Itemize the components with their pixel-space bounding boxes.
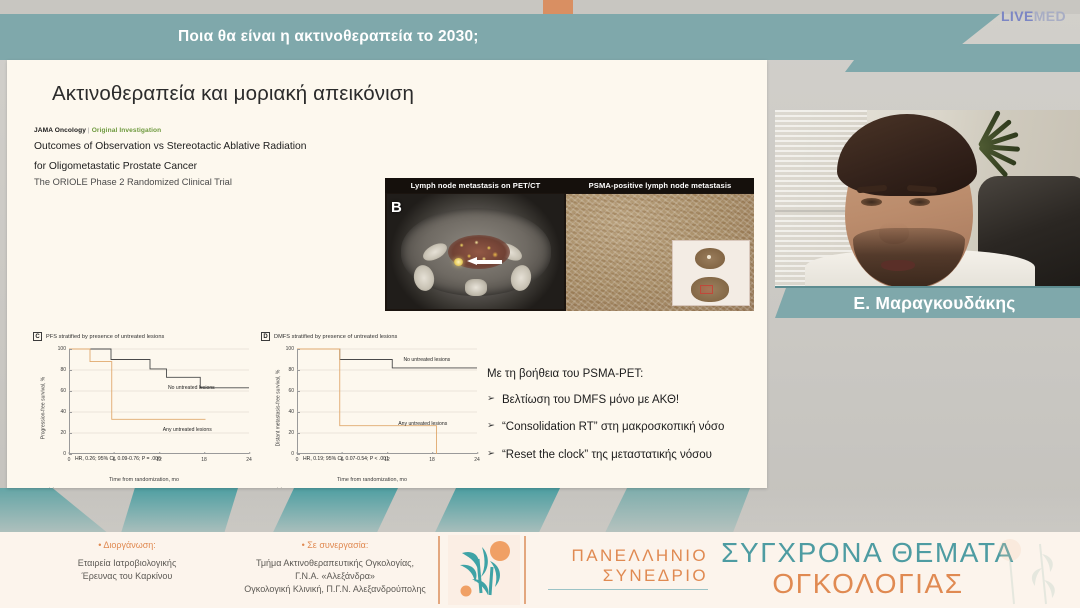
footer-credits: • Διοργάνωση: Εταιρεία Ιατροβιολογικής Έ… (0, 532, 440, 608)
citation-subtitle: The ORIOLE Phase 2 Randomized Clinical T… (34, 176, 364, 189)
km-c-panel-badge: C (33, 332, 42, 341)
slide-bullet-list: Με τη βοήθεια του PSMA-PET: ➢ Βελτίωση τ… (487, 368, 767, 475)
bullet-text: “Reset the clock” της μεταστατικής νόσου (502, 448, 712, 462)
km-ytick-label: 80 (60, 367, 69, 373)
km-xtick-label: 18 (201, 454, 207, 463)
speaker-eye-right (909, 198, 930, 206)
speaker-eye-left (861, 198, 882, 206)
screen-root: Ποια θα είναι η ακτινοθεραπεία το 2030; … (0, 0, 1080, 608)
km-c-header: C PFS stratified by presence of untreate… (33, 332, 255, 341)
km-d-xlabel: Time from randomization, mo (261, 477, 483, 483)
session-title: Ποια θα είναι η ακτινοθεραπεία το 2030; (178, 28, 479, 46)
livemed-logo-med: MED (1034, 8, 1066, 24)
conference-subtitle: ΠΑΝΕΛΛΗΝΙΟ ΣΥΝΕΔΡΙΟ (548, 546, 708, 590)
km-xtick-label: 0 (296, 454, 299, 463)
km-d-title: DMFS stratified by presence of untreated… (274, 334, 397, 340)
footer-partner: • Σε συνεργασία: Τμήμα Ακτινοθεραπευτική… (232, 540, 438, 596)
video-teal-accent (845, 47, 1080, 72)
figure-panel-letter: B (391, 199, 402, 216)
km-d-ylabel: Distant metastasis-free survival, % (275, 369, 281, 446)
km-d-plot: Distant metastasis-free survival, % 0204… (261, 345, 483, 470)
km-series-label: Any untreated lesions (163, 427, 212, 433)
km-c-ylabel: Progression-free survival, % (40, 376, 46, 439)
bullet-text: “Consolidation RT” στη μακροσκοπική νόσο (502, 420, 724, 434)
figure-panel: Lymph node metastasis on PET/CT B PSMA-p… (385, 178, 754, 311)
organizer-heading: • Διοργάνωση: (22, 540, 232, 550)
psma-ihc-panel: PSMA-positive lymph node metastasis (566, 178, 754, 311)
km-chart-pfs: C PFS stratified by presence of untreate… (33, 332, 255, 488)
km-c-plot: Progression-free survival, % 02040608010… (33, 345, 255, 470)
presentation-slide[interactable]: Ακτινοθεραπεία και μοριακή απεικόνιση JA… (7, 60, 767, 488)
slide-title: Ακτινοθεραπεία και μοριακή απεικόνιση (52, 82, 414, 106)
bullet-text: Βελτίωση του DMFS μόνο με ΑΚΘ! (502, 393, 679, 407)
citation-section: Original Investigation (92, 127, 162, 134)
footer-divider-left (438, 536, 440, 604)
speaker-name-divider (775, 286, 1080, 288)
km-c-axes: 02040608010006121824No untreated lesions… (69, 349, 249, 454)
conference-main-title: ΣΥΓΧΡΟΝΑ ΘΕΜΑΤΑ ΟΓΚΟΛΟΓΙΑΣ (718, 538, 1018, 600)
bullet-arrow-icon: ➢ (487, 448, 495, 460)
bullet-item: ➢ “Consolidation RT” στη μακροσκοπική νό… (487, 420, 767, 434)
km-chart-dmfs: D DMFS stratified by presence of untreat… (261, 332, 483, 488)
partner-heading: • Σε συνεργασία: (232, 540, 438, 550)
conference-footer: • Διοργάνωση: Εταιρεία Ιατροβιολογικής Έ… (0, 532, 1080, 608)
conference-title-line1: ΣΥΓΧΡΟΝΑ ΘΕΜΑΤΑ (718, 538, 1018, 569)
orange-tab-decoration (543, 0, 573, 14)
km-series-label: No untreated lesions (168, 385, 215, 391)
citation-title-line1: Outcomes of Observation vs Stereotactic … (34, 140, 364, 154)
citation-title-line2: for Oligometastatic Prostate Cancer (34, 160, 364, 174)
km-ytick-label: 20 (288, 430, 297, 436)
km-ytick-label: 60 (288, 388, 297, 394)
bullet-item: ➢ Βελτίωση του DMFS μόνο με ΑΚΘ! (487, 393, 767, 407)
km-series-line (69, 349, 249, 388)
km-series-line (297, 349, 437, 454)
bullet-arrow-icon: ➢ (487, 420, 495, 432)
partner-name-line2: Γ.Ν.Α. «Αλεξάνδρα» (232, 570, 438, 583)
citation-header: JAMA Oncology | Original Investigation (34, 127, 364, 134)
session-title-bar: Ποια θα είναι η ακτινοθεραπεία το 2030; (0, 14, 1000, 60)
conference-title-line2: ΟΓΚΟΛΟΓΙΑΣ (718, 569, 1018, 600)
km-ytick-label: 80 (288, 367, 297, 373)
psma-ihc-caption: PSMA-positive lymph node metastasis (566, 178, 754, 193)
petct-panel: Lymph node metastasis on PET/CT B (385, 178, 566, 311)
partner-name-line3: Ογκολογική Κλινική, Π.Γ.Ν. Αλεξανδρούπολ… (232, 583, 438, 596)
km-c-curves (69, 349, 249, 454)
logo-leaves-svg (448, 535, 520, 605)
km-xtick-label: 24 (474, 454, 480, 463)
top-band-decoration (0, 0, 1080, 14)
km-ytick-label: 100 (58, 346, 69, 352)
livemed-logo-live: LIVE (1001, 8, 1034, 24)
km-d-curves (297, 349, 477, 454)
km-d-header: D DMFS stratified by presence of untreat… (261, 332, 483, 341)
speaker-mouth (881, 260, 915, 271)
footer-divider-right (524, 536, 526, 604)
livemed-logo: LIVEMED (1001, 8, 1066, 24)
km-c-title: PFS stratified by presence of untreated … (46, 334, 164, 340)
footer-leaf-decoration (980, 534, 1066, 606)
inset-node-lower (691, 277, 729, 302)
speaker-name: Ε. Μαραγκουδάκης (839, 293, 1015, 314)
km-d-hr-annotation: HR, 0.19; 95% CI, 0.07-0.54; P < .001 (303, 456, 389, 462)
petct-image (387, 194, 564, 309)
ct-spine (465, 279, 487, 296)
km-series-label: No untreated lesions (404, 357, 451, 363)
km-xtick-label: 0 (68, 454, 71, 463)
conference-logo-icon (448, 535, 520, 605)
km-series-label: Any untreated lesions (398, 421, 447, 427)
conference-line2: ΣΥΝΕΔΡΙΟ (548, 566, 708, 586)
journal-citation: JAMA Oncology | Original Investigation O… (34, 127, 364, 189)
km-ytick-label: 20 (60, 430, 69, 436)
speaker-name-bar: Ε. Μαραγκουδάκης (775, 288, 1080, 318)
psma-ihc-inset (672, 240, 750, 306)
km-xtick-label: 24 (246, 454, 252, 463)
conference-underline (548, 589, 708, 590)
km-c-hr-annotation: HR, 0.26; 95% CI, 0.09-0.76; P = .006 (75, 456, 161, 462)
speaker-video-feed[interactable] (775, 110, 1080, 288)
organizer-name-line2: Έρευνας του Καρκίνου (22, 570, 232, 583)
citation-separator: | (88, 127, 90, 134)
km-d-axes: 02040608010006121824No untreated lesions… (297, 349, 477, 454)
citation-journal: JAMA Oncology (34, 127, 86, 134)
km-xtick-label: 18 (429, 454, 435, 463)
km-ytick-label: 40 (288, 409, 297, 415)
lesion-pointer-arrow-icon (467, 257, 503, 266)
km-ytick-label: 100 (286, 346, 297, 352)
conference-line1: ΠΑΝΕΛΛΗΝΙΟ (548, 546, 708, 566)
organizer-name-line1: Εταιρεία Ιατροβιολογικής (22, 557, 232, 570)
inset-node-upper (695, 248, 725, 269)
km-d-panel-badge: D (261, 332, 270, 341)
bullet-lead-text: Με τη βοήθεια του PSMA-PET: (487, 368, 767, 380)
km-ytick-label: 40 (60, 409, 69, 415)
partner-name-line1: Τμήμα Ακτινοθεραπευτικής Ογκολογίας, (232, 557, 438, 570)
bullet-item: ➢ “Reset the clock” της μεταστατικής νόσ… (487, 448, 767, 462)
km-c-xlabel: Time from randomization, mo (33, 477, 255, 483)
petct-caption: Lymph node metastasis on PET/CT (385, 178, 566, 193)
footer-organizer: • Διοργάνωση: Εταιρεία Ιατροβιολογικής Έ… (22, 540, 232, 583)
bullet-arrow-icon: ➢ (487, 393, 495, 405)
psma-ihc-image (566, 194, 754, 311)
km-ytick-label: 60 (60, 388, 69, 394)
